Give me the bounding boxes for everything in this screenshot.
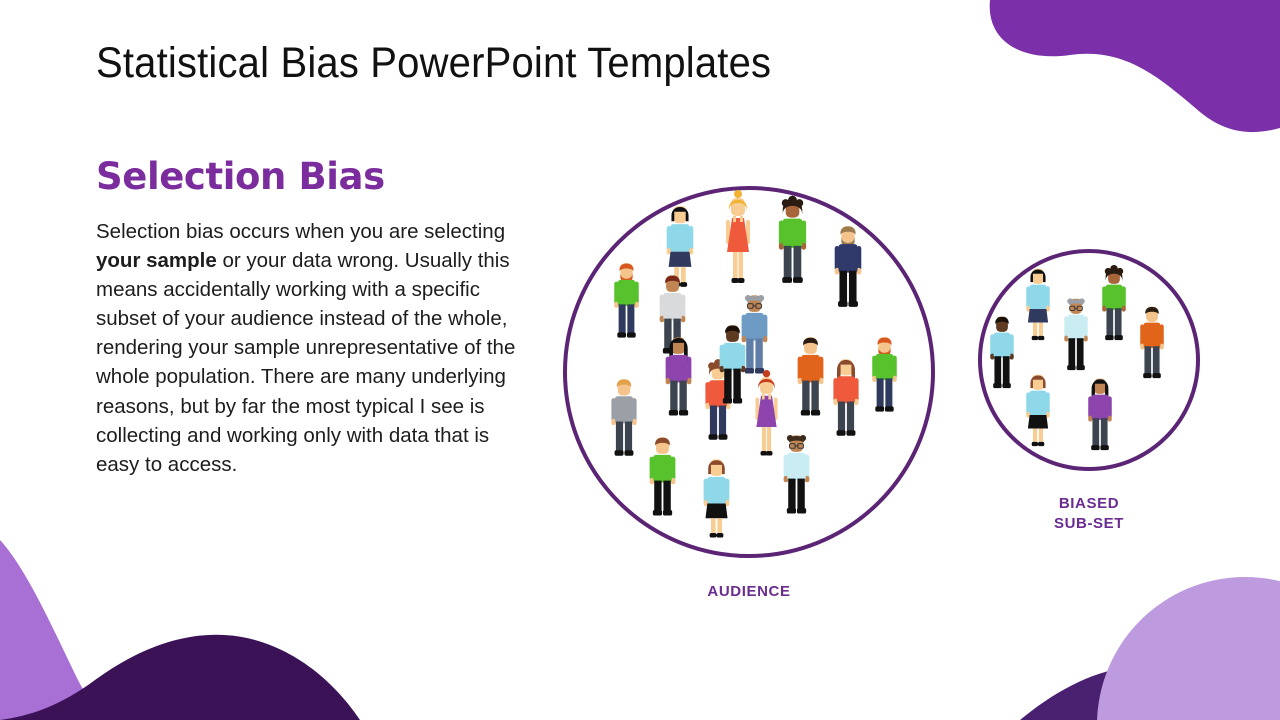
- page-title: Statistical Bias PowerPoint Templates: [96, 40, 771, 87]
- audience-person: [714, 318, 751, 410]
- audience-person: [867, 330, 902, 418]
- audience-person: [829, 218, 867, 314]
- biased-subset-label: BIASED SUB-SET: [978, 494, 1200, 535]
- audience-person: [644, 430, 681, 522]
- audience-person: [606, 372, 642, 462]
- decorative-wave-bottom-left: [0, 530, 420, 720]
- decorative-shapes-bottom-right: [980, 545, 1280, 720]
- text-column: Selection Bias Selection bias occurs whe…: [96, 158, 520, 479]
- paragraph-suffix: or your data wrong. Usually this means a…: [96, 249, 515, 476]
- audience-person: [828, 352, 864, 442]
- section-heading: Selection Bias: [96, 158, 520, 197]
- subset-person: [1059, 292, 1093, 376]
- subset-person: [1021, 262, 1055, 346]
- audience-person: [660, 330, 697, 422]
- audience-person: [778, 428, 815, 520]
- decorative-blob-top-right: [950, 0, 1280, 135]
- subset-person: [1135, 300, 1169, 384]
- audience-person: [718, 190, 758, 290]
- subset-person: [1097, 262, 1131, 346]
- subset-label-line-2: SUB-SET: [978, 514, 1200, 534]
- audience-person: [698, 452, 735, 544]
- subset-person: [985, 310, 1019, 394]
- subset-person: [1083, 372, 1117, 456]
- slide-canvas: Statistical Bias PowerPoint Templates Se…: [0, 0, 1280, 720]
- audience-person: [773, 192, 812, 290]
- audience-person: [609, 256, 644, 344]
- audience-person: [792, 330, 829, 422]
- body-paragraph: Selection bias occurs when you are selec…: [96, 217, 520, 479]
- paragraph-prefix: Selection bias occurs when you are selec…: [96, 220, 505, 243]
- audience-label: AUDIENCE: [563, 582, 935, 602]
- subset-label-line-1: BIASED: [978, 494, 1200, 514]
- subset-person: [1021, 368, 1055, 452]
- paragraph-bold-phrase: your sample: [96, 249, 217, 272]
